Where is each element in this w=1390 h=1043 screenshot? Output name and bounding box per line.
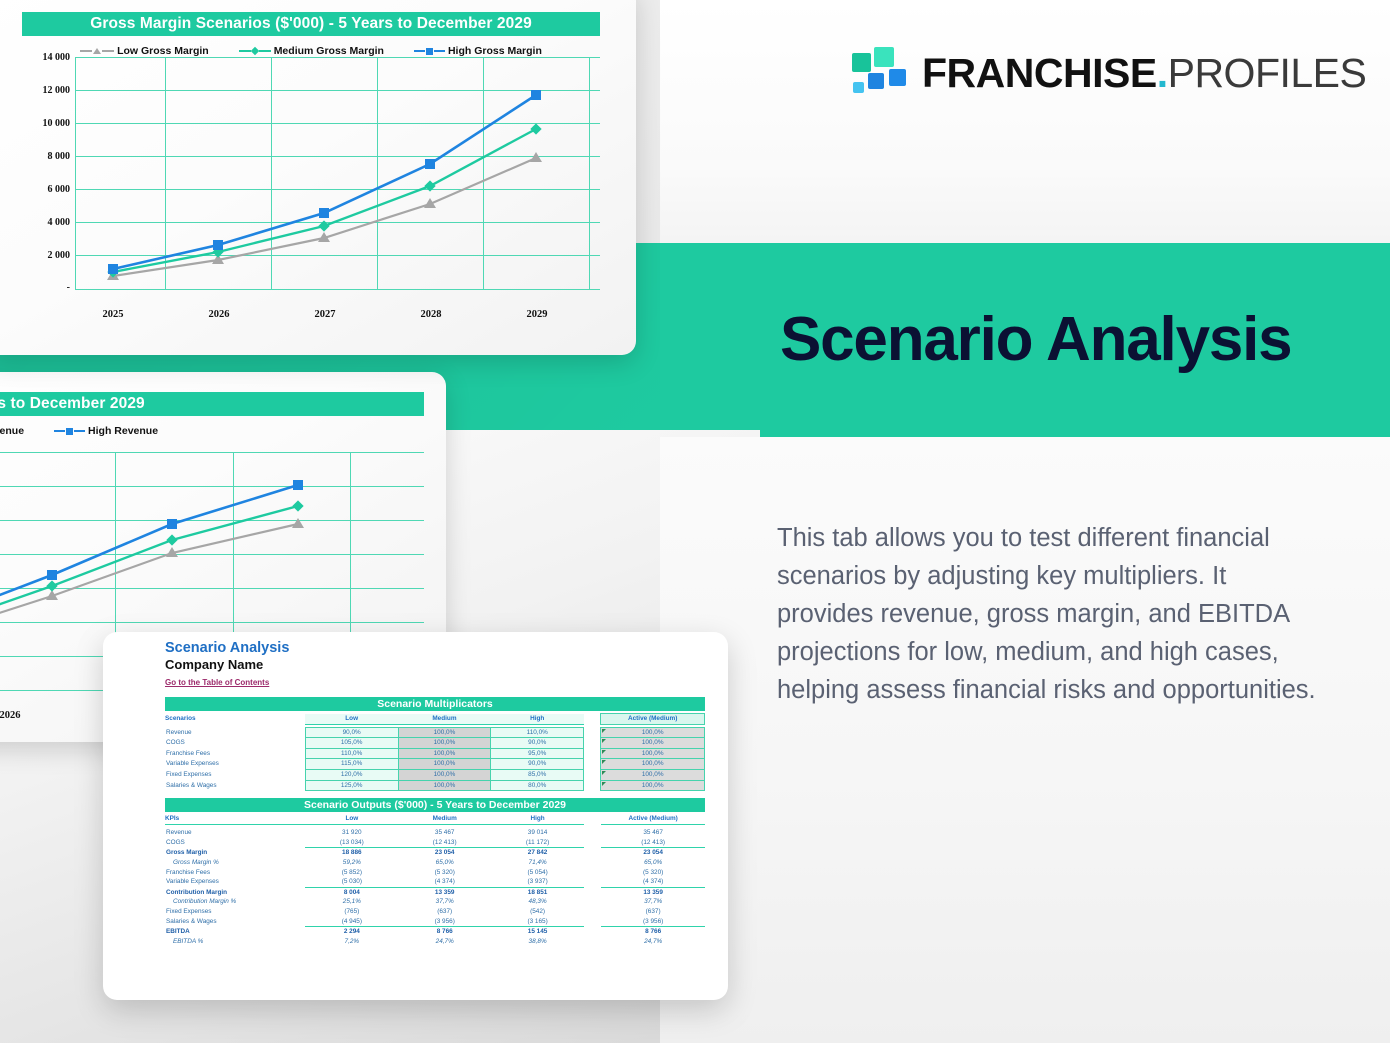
outputs-franchise-fees-medium: (5 320) xyxy=(398,868,491,878)
logo-square-blue-bright xyxy=(889,69,906,86)
gross-margin-y-tick-12000: 12 000 xyxy=(0,85,70,96)
outputs-cogs-active: (12 413) xyxy=(601,838,705,848)
multiplicators-cogs-medium[interactable]: 100,0% xyxy=(398,738,491,749)
logo-square-blue-mid xyxy=(868,73,884,89)
outputs-gross-margin-active: 23 054 xyxy=(601,848,705,858)
table-row: Revenue 31 920 35 467 39 014 35 467 xyxy=(165,828,705,838)
outputs-ebitda-pct-active: 24,7% xyxy=(601,937,705,947)
outputs-cogs-low: (13 034) xyxy=(305,838,398,848)
outputs-revenue-medium: 35 467 xyxy=(398,828,491,838)
table-row: Fixed Expenses 120,0% 100,0% 85,0% 100,0… xyxy=(165,769,705,780)
multiplicators-band-title: Scenario Multiplicators xyxy=(165,697,705,711)
table-row: Variable Expenses 115,0% 100,0% 90,0% 10… xyxy=(165,759,705,770)
table-row: EBITDA % 7,2% 24,7% 38,8% 24,7% xyxy=(165,937,705,947)
table-row: Franchise Fees (5 852) (5 320) (5 054) (… xyxy=(165,868,705,878)
legend-marker-high-revenue xyxy=(66,428,73,435)
outputs-contribution-margin-pct-active: 37,7% xyxy=(601,897,705,907)
multiplicators-revenue-medium[interactable]: 100,0% xyxy=(398,727,491,738)
outputs-variable-expenses-low: (5 030) xyxy=(305,877,398,887)
outputs-ebitda-high: 15 145 xyxy=(491,927,584,937)
table-row: Fixed Expenses (765) (637) (542) (637) xyxy=(165,907,705,917)
outputs-label-gross-margin-pct: Gross Margin % xyxy=(165,858,305,868)
gross-margin-chart-card: Gross Margin Scenarios ($'000) - 5 Years… xyxy=(0,0,636,355)
outputs-gross-margin-pct-low: 59,2% xyxy=(305,858,398,868)
legend-item-medium-revenue: Medium Revenue xyxy=(0,425,24,437)
revenue-x-tick-2026: 2026 xyxy=(0,710,50,721)
outputs-row-header-label: KPIs xyxy=(165,814,305,824)
multiplicators-franchise-fees-medium[interactable]: 100,0% xyxy=(398,748,491,759)
multiplicators-table: Scenarios Low Medium High Active (Medium… xyxy=(165,713,705,791)
outputs-band-title: Scenario Outputs ($'000) - 5 Years to De… xyxy=(165,798,705,812)
multiplicators-col-high: High xyxy=(491,714,584,725)
legend-marker-low-gross-margin xyxy=(93,48,101,54)
logo-square-blue-small xyxy=(853,82,864,93)
legend-item-high-revenue: High Revenue xyxy=(54,425,158,437)
table-row: Salaries & Wages (4 945) (3 956) (3 165)… xyxy=(165,917,705,927)
logo-word-profiles: PROFILES xyxy=(1168,50,1367,96)
outputs-revenue-active: 35 467 xyxy=(601,828,705,838)
logo-square-teal-light xyxy=(874,47,894,67)
page-title: Scenario Analysis xyxy=(780,305,1291,375)
outputs-table: KPIs Low Medium High Active (Medium) Rev… xyxy=(165,814,705,946)
legend-line-low-gross-margin-2 xyxy=(102,50,114,52)
logo-dot: . xyxy=(1157,50,1168,96)
multiplicators-revenue-active[interactable]: 100,0% xyxy=(601,727,705,738)
outputs-label-gross-margin: Gross Margin xyxy=(165,848,305,858)
outputs-ebitda-pct-medium: 24,7% xyxy=(398,937,491,947)
multiplicators-variable-expenses-medium[interactable]: 100,0% xyxy=(398,759,491,770)
logo-square-teal-dark xyxy=(852,53,871,72)
multiplicators-franchise-fees-active[interactable]: 100,0% xyxy=(601,748,705,759)
outputs-contribution-margin-pct-medium: 37,7% xyxy=(398,897,491,907)
outputs-contribution-margin-pct-low: 25,1% xyxy=(305,897,398,907)
outputs-label-variable-expenses: Variable Expenses xyxy=(165,877,305,887)
legend-line-medium-gross-margin-2 xyxy=(259,50,271,52)
multiplicators-col-low: Low xyxy=(305,714,398,725)
legend-line-medium-gross-margin xyxy=(239,50,251,52)
outputs-label-revenue: Revenue xyxy=(165,828,305,838)
gross-margin-chart-title: Gross Margin Scenarios ($'000) - 5 Years… xyxy=(22,12,600,36)
outputs-cogs-medium: (12 413) xyxy=(398,838,491,848)
legend-label-medium-gross-margin: Medium Gross Margin xyxy=(274,45,384,57)
table-row: Contribution Margin % 25,1% 37,7% 48,3% … xyxy=(165,897,705,907)
multiplicators-label-salaries-wages: Salaries & Wages xyxy=(165,780,305,791)
table-row: Contribution Margin 8 004 13 359 18 851 … xyxy=(165,887,705,897)
outputs-gross-margin-high: 27 842 xyxy=(491,848,584,858)
legend-item-low-gross-margin: Low Gross Margin xyxy=(80,45,209,57)
outputs-salaries-wages-medium: (3 956) xyxy=(398,917,491,927)
gross-margin-y-tick-zero: - xyxy=(0,282,70,293)
gross-margin-y-tick-14000: 14 000 xyxy=(0,52,70,63)
gross-margin-x-tick-2028: 2028 xyxy=(391,309,471,320)
outputs-label-cogs: COGS xyxy=(165,838,305,848)
table-row: COGS (13 034) (12 413) (11 172) (12 413) xyxy=(165,838,705,848)
outputs-contribution-margin-active: 13 359 xyxy=(601,887,705,897)
gross-margin-x-tick-2029: 2029 xyxy=(497,309,577,320)
outputs-salaries-wages-high: (3 165) xyxy=(491,917,584,927)
multiplicators-fixed-expenses-high[interactable]: 85,0% xyxy=(491,769,584,780)
outputs-gross-margin-medium: 23 054 xyxy=(398,848,491,858)
legend-label-low-gross-margin: Low Gross Margin xyxy=(117,45,209,57)
outputs-label-ebitda-pct: EBITDA % xyxy=(165,937,305,947)
outputs-fixed-expenses-low: (765) xyxy=(305,907,398,917)
revenue-chart-legend: Low Revenue Medium Revenue High Revenue xyxy=(0,422,336,440)
multiplicators-label-fixed-expenses: Fixed Expenses xyxy=(165,769,305,780)
logo-mark-icon xyxy=(852,47,906,99)
multiplicators-salaries-wages-medium[interactable]: 100,0% xyxy=(398,780,491,791)
outputs-contribution-margin-medium: 13 359 xyxy=(398,887,491,897)
multiplicators-fixed-expenses-low[interactable]: 120,0% xyxy=(305,769,398,780)
legend-line-high-revenue-2 xyxy=(74,430,85,432)
gross-margin-y-tick-10000: 10 000 xyxy=(0,118,70,129)
outputs-fixed-expenses-medium: (637) xyxy=(398,907,491,917)
table-row: Gross Margin % 59,2% 65,0% 71,4% 65,0% xyxy=(165,858,705,868)
multiplicators-label-franchise-fees: Franchise Fees xyxy=(165,748,305,759)
multiplicators-revenue-low[interactable]: 90,0% xyxy=(305,727,398,738)
legend-line-low-gross-margin xyxy=(80,50,92,52)
outputs-col-high: High xyxy=(491,814,584,824)
outputs-salaries-wages-low: (4 945) xyxy=(305,917,398,927)
outputs-gross-margin-low: 18 886 xyxy=(305,848,398,858)
outputs-col-active: Active (Medium) xyxy=(601,814,705,824)
outputs-col-medium: Medium xyxy=(398,814,491,824)
multiplicators-cogs-active[interactable]: 100,0% xyxy=(601,738,705,749)
legend-label-high-gross-margin: High Gross Margin xyxy=(448,45,542,57)
revenue-chart-title: ue Scenarios ($'000) - 5 Years to Decemb… xyxy=(0,392,424,416)
outputs-col-low: Low xyxy=(305,814,398,824)
outputs-label-franchise-fees: Franchise Fees xyxy=(165,868,305,878)
multiplicators-spacer xyxy=(584,714,601,725)
outputs-label-contribution-margin: Contribution Margin xyxy=(165,887,305,897)
outputs-salaries-wages-active: (3 956) xyxy=(601,917,705,927)
outputs-ebitda-medium: 8 766 xyxy=(398,927,491,937)
legend-label-medium-revenue: Medium Revenue xyxy=(0,425,24,437)
outputs-ebitda-pct-high: 38,8% xyxy=(491,937,584,947)
legend-line-high-gross-margin-2 xyxy=(434,50,445,52)
legend-item-medium-gross-margin: Medium Gross Margin xyxy=(239,45,384,57)
outputs-label-salaries-wages: Salaries & Wages xyxy=(165,917,305,927)
outputs-gross-margin-pct-medium: 65,0% xyxy=(398,858,491,868)
outputs-franchise-fees-active: (5 320) xyxy=(601,868,705,878)
outputs-gross-margin-pct-active: 65,0% xyxy=(601,858,705,868)
logo-wordmark: FRANCHISE.PROFILES xyxy=(922,52,1366,94)
legend-label-high-revenue: High Revenue xyxy=(88,425,158,437)
table-row: Revenue 90,0% 100,0% 110,0% 100,0% xyxy=(165,727,705,738)
outputs-variable-expenses-high: (3 937) xyxy=(491,877,584,887)
outputs-franchise-fees-low: (5 852) xyxy=(305,868,398,878)
outputs-variable-expenses-medium: (4 374) xyxy=(398,877,491,887)
outputs-ebitda-low: 2 294 xyxy=(305,927,398,937)
logo-word-franchise: FRANCHISE xyxy=(922,50,1157,96)
page-description: This tab allows you to test different fi… xyxy=(777,519,1317,709)
outputs-header-row: KPIs Low Medium High Active (Medium) xyxy=(165,814,705,824)
legend-item-high-gross-margin: High Gross Margin xyxy=(414,45,542,57)
multiplicators-variable-expenses-active[interactable]: 100,0% xyxy=(601,759,705,770)
table-row: COGS 105,0% 100,0% 90,0% 100,0% xyxy=(165,738,705,749)
outputs-gross-margin-pct-high: 71,4% xyxy=(491,858,584,868)
multiplicators-col-active: Active (Medium) xyxy=(601,714,705,725)
multiplicators-label-revenue: Revenue xyxy=(165,727,305,738)
outputs-variable-expenses-active: (4 374) xyxy=(601,877,705,887)
outputs-fixed-expenses-high: (542) xyxy=(491,907,584,917)
gross-margin-y-tick-6000: 6 000 xyxy=(0,184,70,195)
multiplicators-label-cogs: COGS xyxy=(165,738,305,749)
multiplicators-salaries-wages-high[interactable]: 80,0% xyxy=(491,780,584,791)
multiplicators-fixed-expenses-active[interactable]: 100,0% xyxy=(601,769,705,780)
multiplicators-franchise-fees-low[interactable]: 110,0% xyxy=(305,748,398,759)
multiplicators-row-header-label: Scenarios xyxy=(165,714,305,725)
outputs-label-ebitda: EBITDA xyxy=(165,927,305,937)
legend-marker-high-gross-margin xyxy=(426,48,433,55)
legend-marker-medium-gross-margin xyxy=(250,47,258,55)
table-row: Gross Margin 18 886 23 054 27 842 23 054 xyxy=(165,848,705,858)
outputs-revenue-high: 39 014 xyxy=(491,828,584,838)
legend-line-high-gross-margin xyxy=(414,50,425,52)
legend-line-high-revenue xyxy=(54,430,65,432)
table-row: Salaries & Wages 125,0% 100,0% 80,0% 100… xyxy=(165,780,705,791)
multiplicators-cogs-low[interactable]: 105,0% xyxy=(305,738,398,749)
brand-logo: FRANCHISE.PROFILES xyxy=(852,47,1366,99)
gross-margin-x-tick-2027: 2027 xyxy=(285,309,365,320)
table-of-contents-link[interactable]: Go to the Table of Contents xyxy=(165,678,269,687)
multiplicators-salaries-wages-low[interactable]: 125,0% xyxy=(305,780,398,791)
outputs-contribution-margin-high: 18 851 xyxy=(491,887,584,897)
outputs-revenue-low: 31 920 xyxy=(305,828,398,838)
scenario-analysis-sheet-card: Scenario Analysis Company Name Go to the… xyxy=(103,632,728,1000)
outputs-label-contribution-margin-pct: Contribution Margin % xyxy=(165,897,305,907)
table-row: Variable Expenses (5 030) (4 374) (3 937… xyxy=(165,877,705,887)
gross-margin-x-tick-2026: 2026 xyxy=(179,309,259,320)
outputs-label-fixed-expenses: Fixed Expenses xyxy=(165,907,305,917)
multiplicators-salaries-wages-active[interactable]: 100,0% xyxy=(601,780,705,791)
multiplicators-col-medium: Medium xyxy=(398,714,491,725)
table-row: EBITDA 2 294 8 766 15 145 8 766 xyxy=(165,927,705,937)
outputs-franchise-fees-high: (5 054) xyxy=(491,868,584,878)
gross-margin-x-tick-2025: 2025 xyxy=(73,309,153,320)
gross-margin-y-tick-8000: 8 000 xyxy=(0,151,70,162)
background-panel-top-right xyxy=(660,0,1390,243)
outputs-contribution-margin-low: 8 004 xyxy=(305,887,398,897)
multiplicators-cogs-high[interactable]: 90,0% xyxy=(491,738,584,749)
outputs-fixed-expenses-active: (637) xyxy=(601,907,705,917)
multiplicators-franchise-fees-high[interactable]: 95,0% xyxy=(491,748,584,759)
multiplicators-variable-expenses-low[interactable]: 115,0% xyxy=(305,759,398,770)
sheet-subtitle: Company Name xyxy=(165,657,705,672)
outputs-spacer xyxy=(584,814,601,824)
table-row: Franchise Fees 110,0% 100,0% 95,0% 100,0… xyxy=(165,748,705,759)
multiplicators-revenue-high[interactable]: 110,0% xyxy=(491,727,584,738)
outputs-ebitda-active: 8 766 xyxy=(601,927,705,937)
gross-margin-y-tick-4000: 4 000 xyxy=(0,217,70,228)
outputs-cogs-high: (11 172) xyxy=(491,838,584,848)
multiplicators-label-variable-expenses: Variable Expenses xyxy=(165,759,305,770)
gross-margin-chart-plot xyxy=(75,57,600,290)
multiplicators-fixed-expenses-medium[interactable]: 100,0% xyxy=(398,769,491,780)
outputs-contribution-margin-pct-high: 48,3% xyxy=(491,897,584,907)
multiplicators-header-row: Scenarios Low Medium High Active (Medium… xyxy=(165,714,705,725)
outputs-ebitda-pct-low: 7,2% xyxy=(305,937,398,947)
gross-margin-y-tick-2000: 2 000 xyxy=(0,250,70,261)
sheet-title: Scenario Analysis xyxy=(165,640,705,657)
multiplicators-variable-expenses-high[interactable]: 90,0% xyxy=(491,759,584,770)
